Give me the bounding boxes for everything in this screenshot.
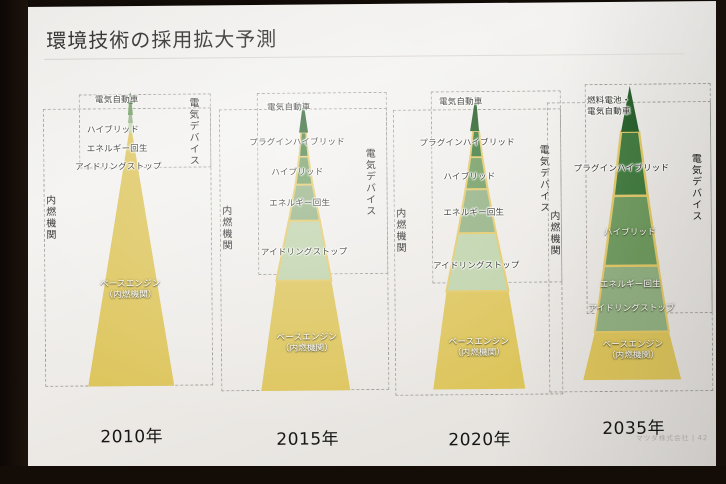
segment-energy-regen-2010 [128, 115, 133, 123]
seglabel-ev-2020: 電気自動車 [439, 95, 483, 107]
year-label-2020: 2020年 [420, 425, 540, 451]
year-label-2015: 2015年 [248, 424, 368, 450]
slide-watermark: マツダ株式会社 | 42 [636, 433, 708, 444]
seglabel-plugin-hybrid-2015: プラグインハイブリッド [249, 135, 345, 148]
frame-bottom-edge [0, 466, 726, 484]
year-label-2010: 2010年 [72, 422, 192, 448]
segment-hybrid-2010 [128, 104, 133, 115]
pyramid-shape-2035 [545, 83, 724, 415]
seglabel-ev-2015: 電気自動車 [267, 101, 311, 113]
title-divider [44, 53, 684, 60]
screenshot-stage: 環境技術の採用拡大予測 内燃機関 電気デバイス 電気自動車 ハイブリッド エネル… [0, 0, 726, 484]
slide-content: 環境技術の採用拡大予測 内燃機関 電気デバイス 電気自動車 ハイブリッド エネル… [24, 1, 722, 477]
seglabel-energy-regen-2020: エネルギー回生 [443, 206, 504, 219]
pyramid-group-2035: 内燃機関 電気デバイス 燃料電池・ 電気自動車 プラグインハイブリッド ハイブリ… [545, 83, 724, 415]
seglabel-base-engine-2015: ベースエンジン （内燃機関） [277, 332, 338, 354]
pyramid-group-2010: 内燃機関 電気デバイス 電気自動車 ハイブリッド エネルギー回生 アイドリングス… [39, 83, 222, 415]
seglabel-plugin-hybrid-2035: プラグインハイブリッド [574, 161, 670, 174]
seglabel-fuelcell-ev-2035: 燃料電池・ 電気自動車 [587, 96, 631, 118]
seglabel-idling-stop-2010: アイドリングストップ [75, 160, 162, 173]
segment-energy-regen-idling-2035 [594, 265, 669, 332]
seglabel-hybrid-2015: ハイブリッド [271, 165, 323, 177]
seglabel-idling-stop-2035: アイドリングストップ [588, 301, 675, 314]
seglabel-idling-stop-2015: アイドリングストップ [261, 245, 348, 258]
seglabel-hybrid-2020: ハイブリッド [443, 170, 495, 182]
seglabel-base-engine-2020: ベースエンジン （内燃機関） [449, 337, 510, 359]
seglabel-energy-regen-2035: エネルギー回生 [600, 277, 661, 290]
seglabel-base-engine-2035: ベースエンジン （内燃機関） [603, 339, 664, 361]
seglabel-energy-regen-2010: エネルギー回生 [87, 142, 148, 155]
seglabel-hybrid-2035: ハイブリッド [604, 226, 656, 238]
seglabel-hybrid-2010: ハイブリッド [87, 123, 139, 135]
seglabel-base-engine-2010: ベースエンジン （内燃機関） [100, 279, 161, 301]
seglabel-ev-2010: 電気自動車 [95, 93, 139, 105]
seglabel-idling-stop-2020: アイドリングストップ [433, 259, 520, 272]
pyramid-group-2015: 内燃機関 電気デバイス 電気自動車 プラグインハイブリッド ハイブリッド エネル… [217, 86, 400, 418]
frame-right-edge [716, 0, 726, 484]
seglabel-plugin-hybrid-2020: プラグインハイブリッド [419, 136, 515, 149]
seglabel-energy-regen-2015: エネルギー回生 [269, 196, 330, 209]
page-title: 環境技術の採用拡大予測 [46, 23, 277, 54]
projected-slide: 環境技術の採用拡大予測 内燃機関 電気デバイス 電気自動車 ハイブリッド エネル… [24, 1, 722, 477]
frame-left-edge [0, 0, 28, 484]
